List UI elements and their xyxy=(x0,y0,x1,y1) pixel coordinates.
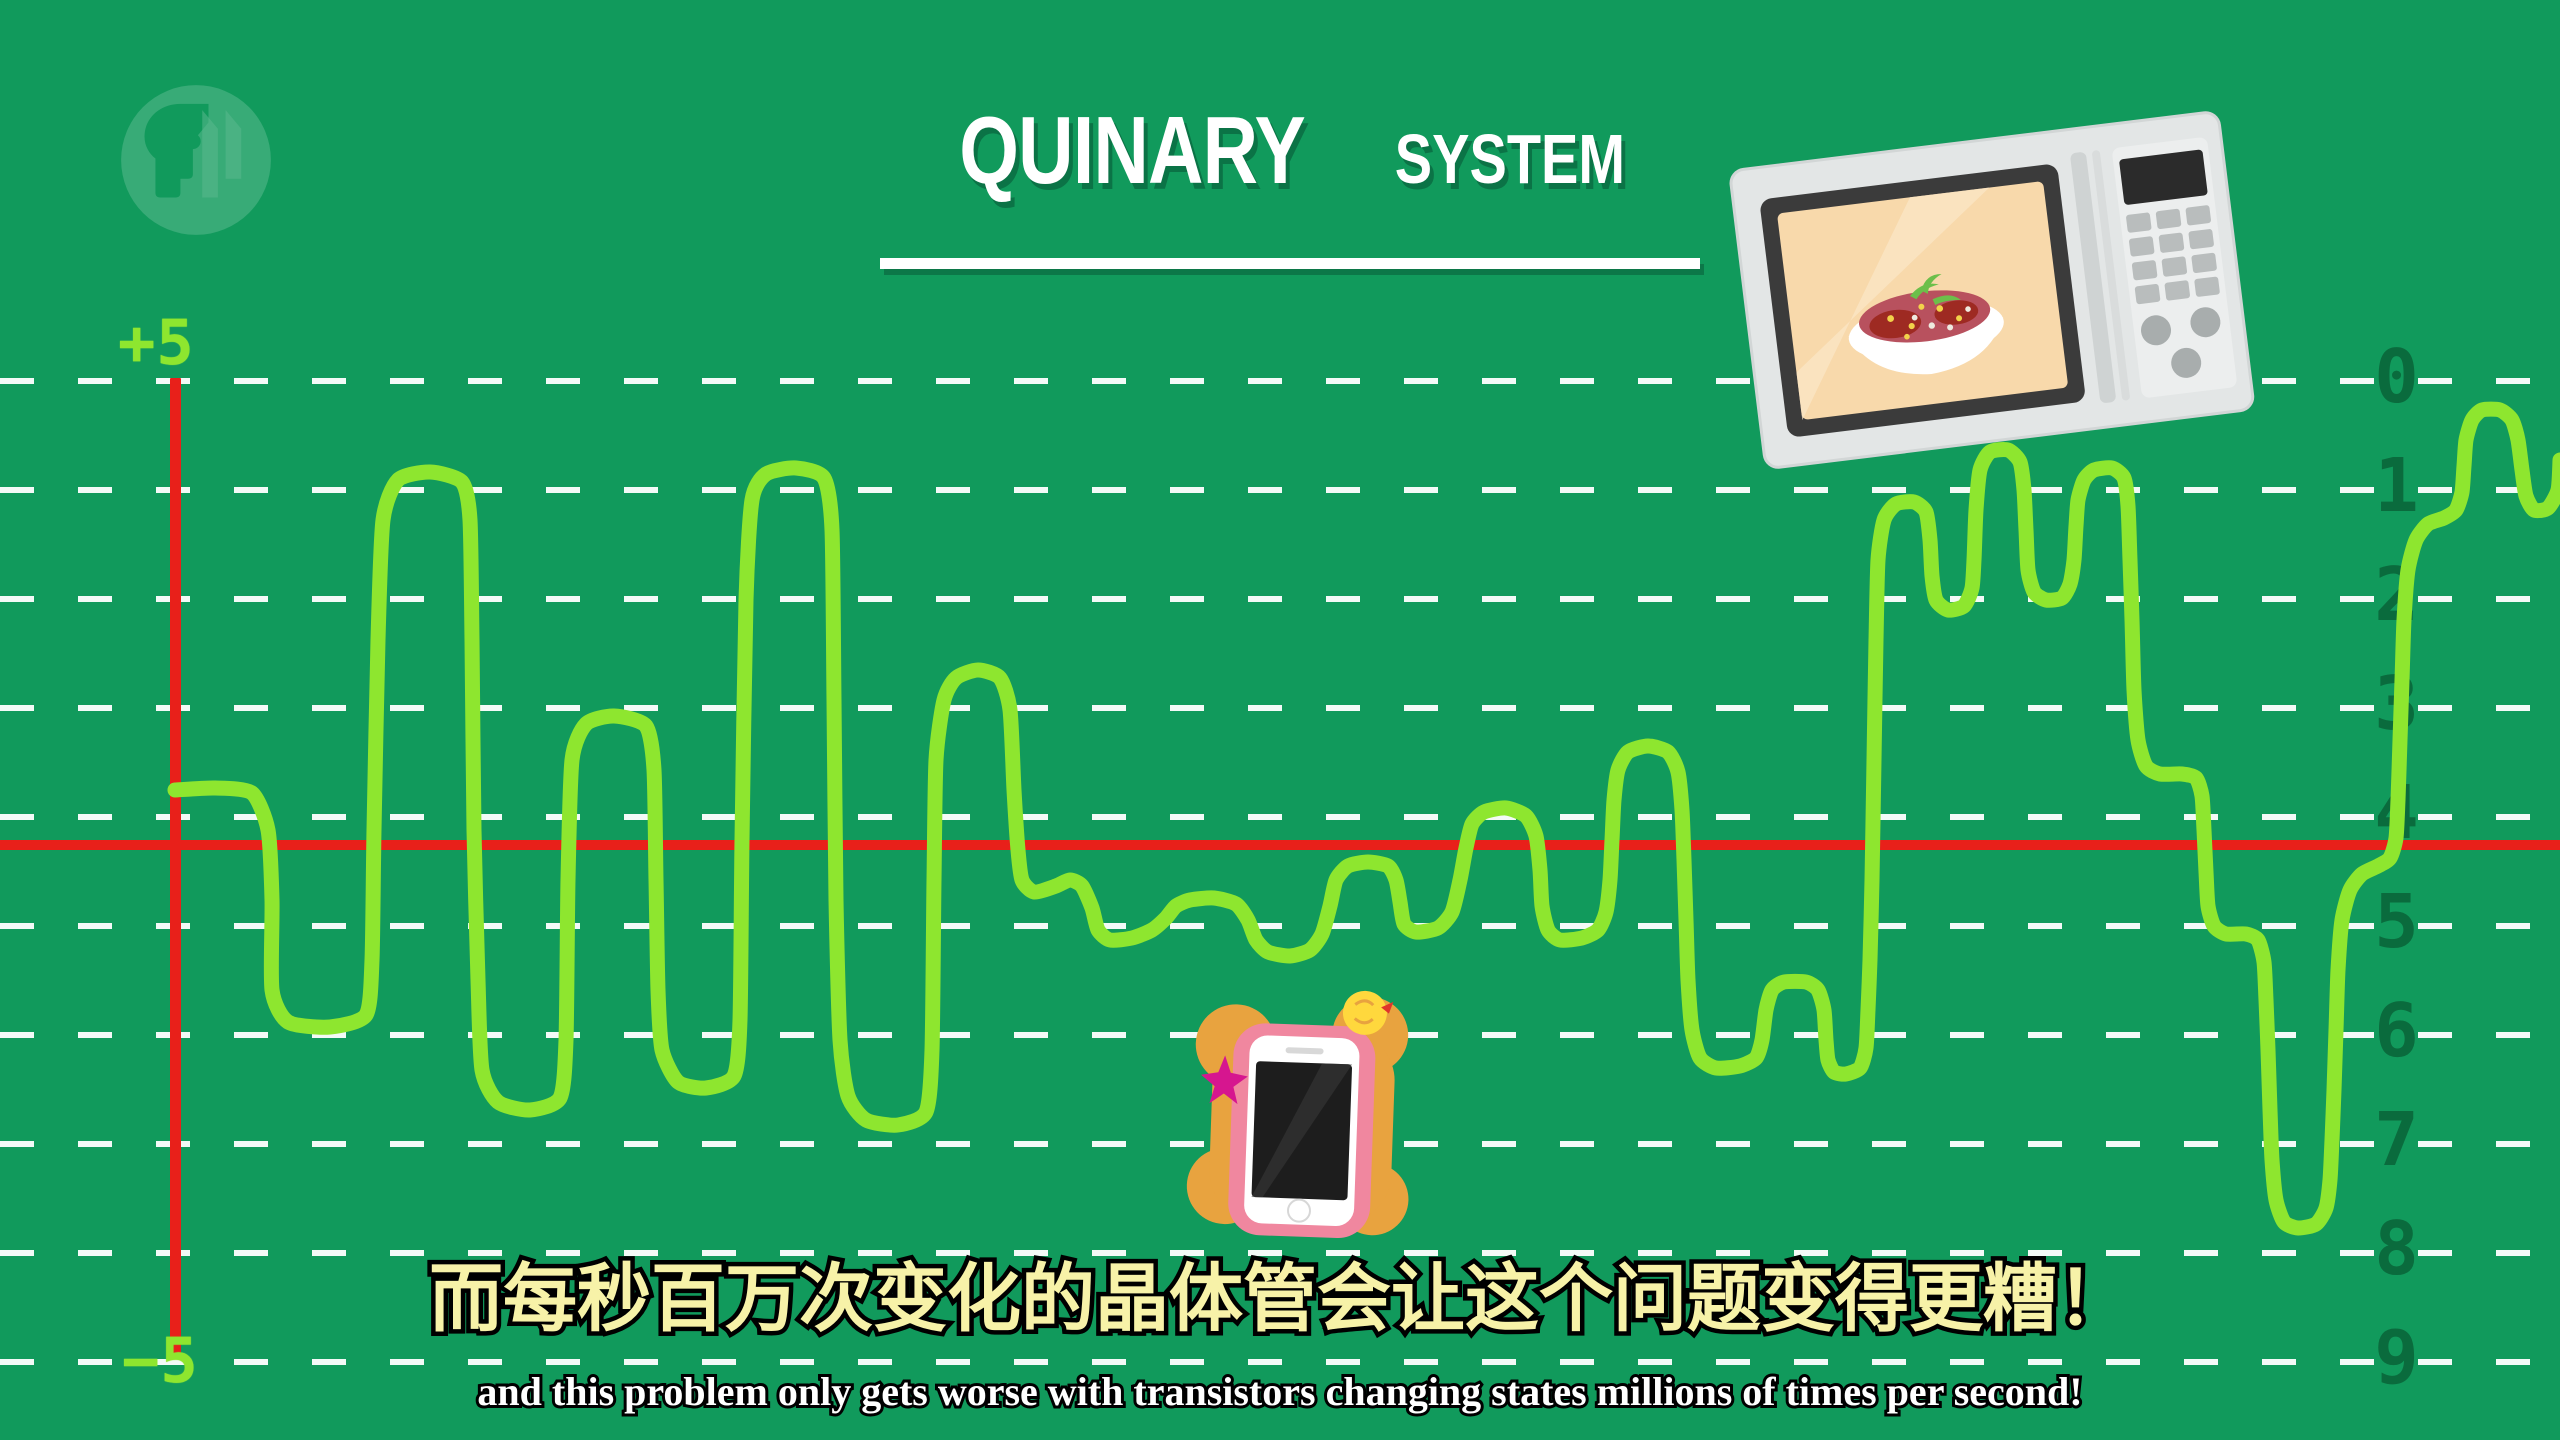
subtitle-english: and this problem only gets worse with tr… xyxy=(0,1372,2560,1412)
microwave-illustration xyxy=(1725,107,2259,476)
subtitle-chinese: 而每秒百万次变化的晶体管会让这个问题变得更糟！ xyxy=(0,1262,2560,1336)
video-frame: +5 −5 0123456789 QUINARYSYSTEM xyxy=(0,0,2560,1440)
